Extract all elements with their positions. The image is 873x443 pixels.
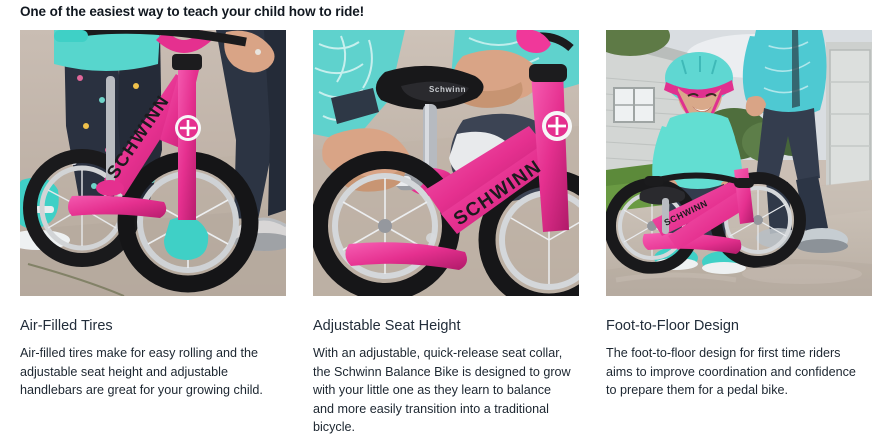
- feature-body-3: The foot-to-floor design for first time …: [606, 344, 868, 400]
- feature-column-3: SCHWINN Foot-to-Floor Design The foot-to…: [606, 30, 872, 437]
- feature-body-2: With an adjustable, quick-release seat c…: [313, 344, 575, 437]
- feature-title-2: Adjustable Seat Height: [313, 317, 579, 335]
- feature-title-3: Foot-to-Floor Design: [606, 317, 872, 335]
- feature-column-2: Schwinn: [313, 30, 579, 437]
- feature-columns: SCHWINN Air-Filled Tires Air-filled tire…: [20, 30, 873, 437]
- feature-column-1: SCHWINN Air-Filled Tires Air-filled tire…: [20, 30, 286, 437]
- feature-body-1: Air-filled tires make for easy rolling a…: [20, 344, 282, 400]
- page-title: One of the easiest way to teach your chi…: [20, 4, 364, 19]
- svg-text:Schwinn: Schwinn: [429, 85, 466, 94]
- feature-image-1: SCHWINN: [20, 30, 286, 296]
- feature-title-1: Air-Filled Tires: [20, 317, 286, 335]
- feature-image-2: Schwinn: [313, 30, 579, 296]
- feature-section: One of the easiest way to teach your chi…: [0, 0, 873, 443]
- feature-image-3: SCHWINN: [606, 30, 872, 296]
